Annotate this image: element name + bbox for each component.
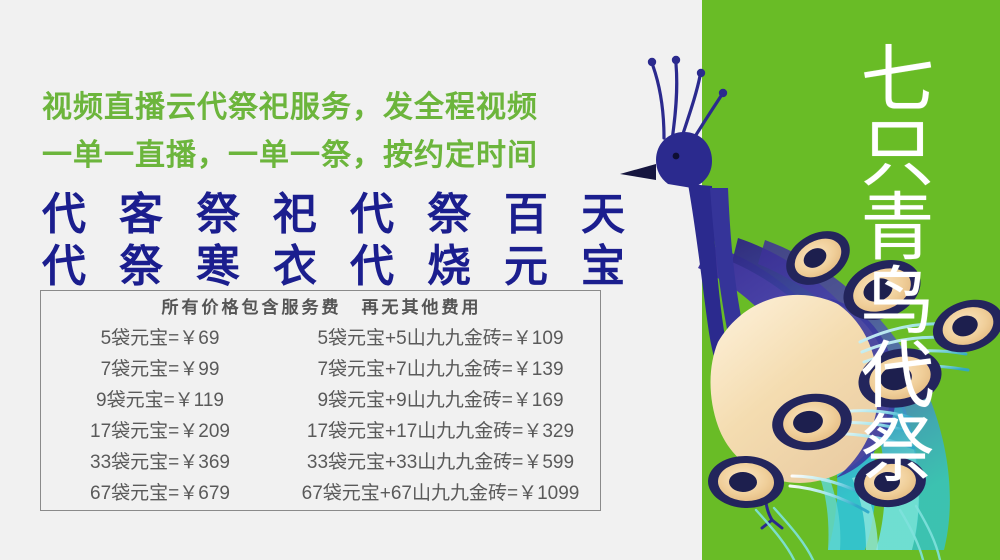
headline-green-line-2: 一单一直播，一单一祭，按约定时间 xyxy=(42,130,538,174)
price-cell-basic: 67袋元宝=￥679 xyxy=(41,478,279,505)
poster-canvas: 七只青鸟代祭 视频直播云代祭祀服务，发全程视频 一单一直播，一单一祭，按约定时间… xyxy=(0,0,1000,560)
price-row: 7袋元宝=￥997袋元宝+7山九九金砖=￥139 xyxy=(41,352,602,383)
price-cell-combo: 9袋元宝+9山九九金砖=￥169 xyxy=(279,385,602,412)
price-cell-combo: 7袋元宝+7山九九金砖=￥139 xyxy=(279,354,602,381)
price-cell-basic: 7袋元宝=￥99 xyxy=(41,354,279,381)
price-cell-basic: 9袋元宝=￥119 xyxy=(41,385,279,412)
brand-vertical-title: 七只青鸟代祭 xyxy=(818,40,928,484)
price-cell-basic: 33袋元宝=￥369 xyxy=(41,447,279,474)
price-row: 33袋元宝=￥36933袋元宝+33山九九金砖=￥599 xyxy=(41,445,602,476)
price-cell-combo: 5袋元宝+5山九九金砖=￥109 xyxy=(279,323,602,350)
price-row: 17袋元宝=￥20917袋元宝+17山九九金砖=￥329 xyxy=(41,414,602,445)
price-cell-basic: 5袋元宝=￥69 xyxy=(41,323,279,350)
headline-green-line-1: 视频直播云代祭祀服务，发全程视频 xyxy=(42,82,538,126)
price-table: 所有价格包含服务费 再无其他费用 5袋元宝=￥695袋元宝+5山九九金砖=￥10… xyxy=(40,290,601,511)
headline-blue-line-2: 代 祭 寒 衣 代 烧 元 宝 xyxy=(42,230,636,294)
price-row: 5袋元宝=￥695袋元宝+5山九九金砖=￥109 xyxy=(41,321,602,352)
price-row: 67袋元宝=￥67967袋元宝+67山九九金砖=￥1099 xyxy=(41,476,602,507)
price-table-rows: 5袋元宝=￥695袋元宝+5山九九金砖=￥1097袋元宝=￥997袋元宝+7山九… xyxy=(41,321,602,507)
price-row: 9袋元宝=￥1199袋元宝+9山九九金砖=￥169 xyxy=(41,383,602,414)
price-table-note: 所有价格包含服务费 再无其他费用 xyxy=(41,293,602,318)
price-cell-combo: 17袋元宝+17山九九金砖=￥329 xyxy=(279,416,602,443)
price-cell-basic: 17袋元宝=￥209 xyxy=(41,416,279,443)
price-cell-combo: 67袋元宝+67山九九金砖=￥1099 xyxy=(279,478,602,505)
price-cell-combo: 33袋元宝+33山九九金砖=￥599 xyxy=(279,447,602,474)
